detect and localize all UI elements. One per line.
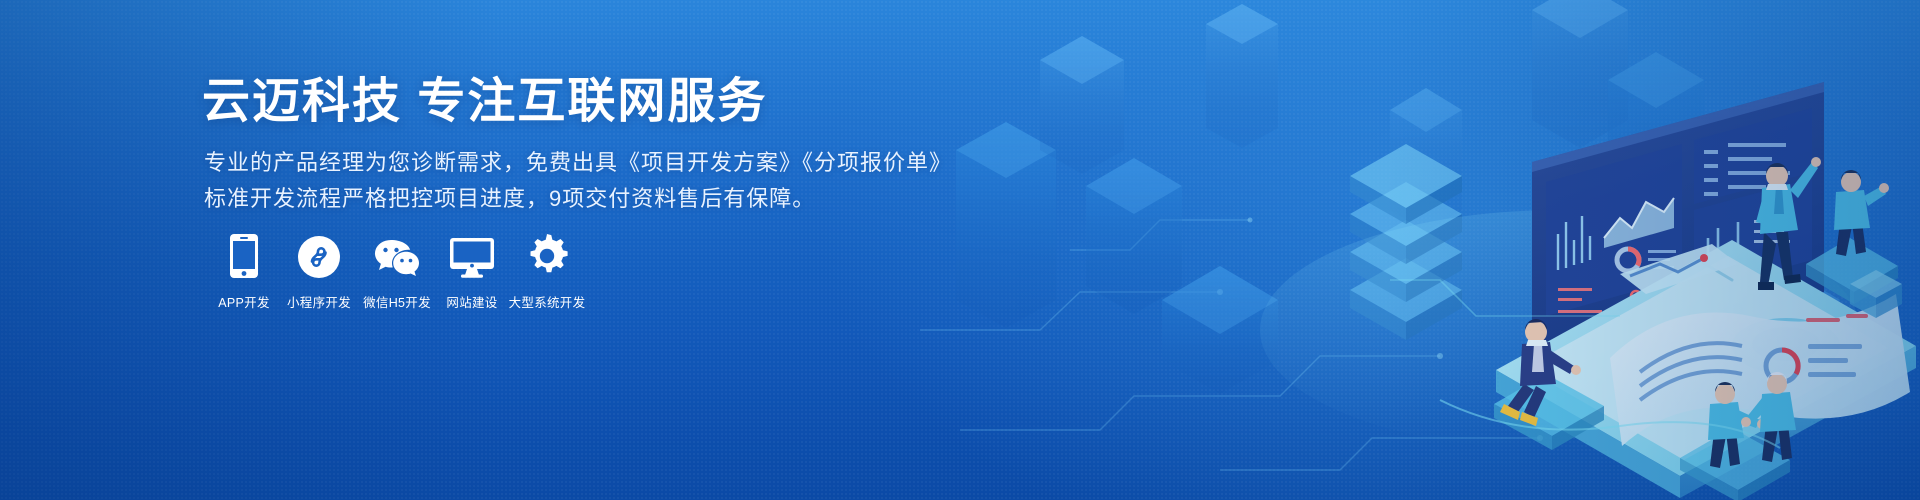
service-label: APP开发 <box>218 292 270 311</box>
banner-subtitle-line-1: 专业的产品经理为您诊断需求，免费出具《项目开发方案》《分项报价单》 <box>204 144 952 181</box>
monitor-icon <box>449 232 495 278</box>
banner-subtitle-line-2: 标准开发流程严格把控项目进度，9项交付资料售后有保障。 <box>204 180 815 217</box>
service-item-app[interactable]: APP开发 <box>208 232 280 311</box>
mini-program-icon <box>296 232 342 278</box>
service-label: 微信H5开发 <box>363 292 431 311</box>
wechat-icon <box>374 232 420 278</box>
service-label: 网站建设 <box>446 292 497 311</box>
service-item-large-system[interactable]: 大型系统开发 <box>508 232 586 311</box>
service-label: 小程序开发 <box>287 292 351 311</box>
service-list: APP开发 小程序开发 <box>208 232 586 311</box>
service-item-mini-program[interactable]: 小程序开发 <box>280 232 358 311</box>
service-label: 大型系统开发 <box>509 292 586 311</box>
banner-headline: 云迈科技 专注互联网服务 <box>202 74 767 131</box>
isometric-tech-illustration <box>920 0 1920 500</box>
mobile-phone-icon <box>221 232 267 278</box>
banner-copy: 云迈科技 专注互联网服务 专业的产品经理为您诊断需求，免费出具《项目开发方案》《… <box>200 0 960 500</box>
hero-banner: 云迈科技 专注互联网服务 专业的产品经理为您诊断需求，免费出具《项目开发方案》《… <box>0 0 1920 500</box>
service-item-wechat-h5[interactable]: 微信H5开发 <box>358 232 436 311</box>
service-item-website[interactable]: 网站建设 <box>436 232 508 311</box>
gear-icon <box>524 232 570 278</box>
